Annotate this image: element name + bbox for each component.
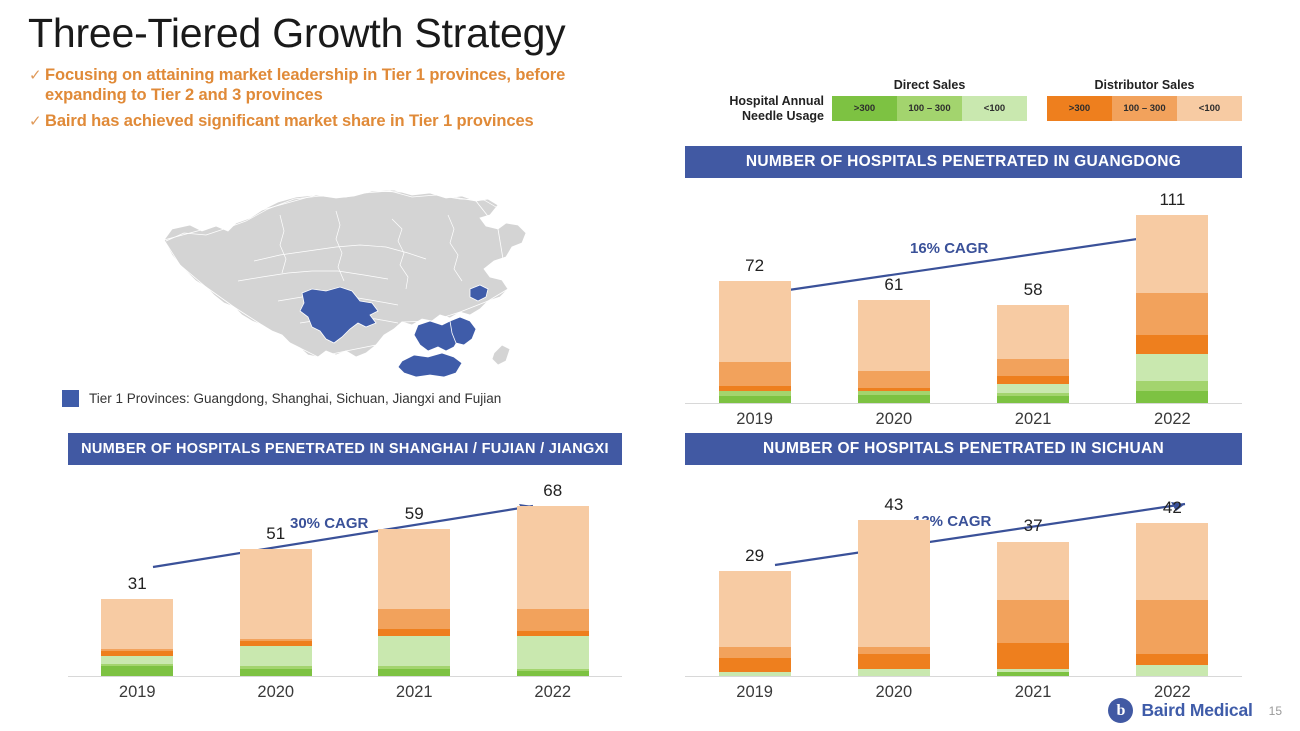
bar-segment (378, 529, 450, 609)
chart-title-guangdong: NUMBER OF HOSPITALS PENETRATED IN GUANGD… (685, 146, 1242, 178)
bar-segment (997, 384, 1069, 392)
bar-segment (858, 371, 930, 388)
x-tick-label: 2020 (824, 410, 963, 429)
stacked-bar (719, 571, 791, 676)
bar-segment (997, 396, 1069, 403)
bullet-text: Baird has achieved significant market sh… (45, 112, 534, 132)
x-axis-labels-shanghai-fujian-jiangxi: 2019 2020 2021 2022 (68, 683, 622, 702)
legend-cell-dist-high: >300 (1047, 96, 1112, 121)
bar-value-label: 29 (685, 546, 824, 566)
bar-slot: 59 (345, 477, 484, 676)
legend-cell-dist-mid: 100 – 300 (1112, 96, 1177, 121)
bar-group-sichuan: 29433742 (685, 477, 1242, 676)
bar-value-label: 58 (964, 280, 1103, 300)
x-axis-line (685, 676, 1242, 677)
page-title: Three-Tiered Growth Strategy (28, 10, 565, 57)
bar-segment (1136, 354, 1208, 381)
bar-slot: 42 (1103, 477, 1242, 676)
bar-segment (101, 666, 173, 676)
chart-plot-guangdong: 16% CAGR 726158111 (685, 192, 1242, 404)
bar-segment (719, 362, 791, 386)
bar-slot: 51 (207, 477, 346, 676)
x-tick-label: 2019 (685, 683, 824, 702)
bar-segment (1136, 381, 1208, 391)
x-axis-line (68, 676, 622, 677)
bar-segment (378, 629, 450, 637)
bar-segment (997, 643, 1069, 668)
legend-group-direct-sales: Direct Sales >300 100 – 300 <100 (832, 78, 1027, 121)
brand-name: Baird Medical (1141, 700, 1252, 721)
legend-group-title: Direct Sales (832, 78, 1027, 92)
bar-segment (101, 599, 173, 649)
bullet-list: ✓ Focusing on attaining market leadershi… (29, 66, 649, 139)
bar-segment (517, 609, 589, 632)
legend-cell-direct-mid: 100 – 300 (897, 96, 962, 121)
x-axis-line (685, 403, 1242, 404)
bar-segment (719, 396, 791, 403)
x-tick-label: 2021 (964, 410, 1103, 429)
bar-segment (858, 520, 930, 647)
bar-segment (719, 281, 791, 362)
bar-value-label: 42 (1103, 498, 1242, 518)
chart-plot-shanghai-fujian-jiangxi: 30% CAGR 31515968 (68, 477, 622, 677)
bar-segment (858, 647, 930, 654)
bar-segment (240, 549, 312, 639)
footer: b Baird Medical 15 (1108, 698, 1282, 723)
x-tick-label: 2022 (484, 683, 623, 702)
bar-slot: 111 (1103, 192, 1242, 403)
bar-segment (1136, 215, 1208, 293)
stacked-bar (517, 506, 589, 676)
bar-segment (1136, 665, 1208, 676)
bar-segment (517, 636, 589, 669)
bar-segment (1136, 600, 1208, 655)
bar-segment (997, 359, 1069, 376)
usage-legend-row-label-line1: Hospital Annual (712, 94, 824, 109)
usage-legend: Hospital Annual Needle Usage Direct Sale… (712, 78, 1242, 130)
stacked-bar (1136, 523, 1208, 676)
stacked-bar (997, 541, 1069, 676)
map-legend-swatch (62, 390, 79, 407)
bar-segment (1136, 335, 1208, 354)
check-icon: ✓ (29, 66, 45, 85)
bar-segment (858, 300, 930, 371)
bar-group-guangdong: 726158111 (685, 192, 1242, 403)
bar-segment (1136, 523, 1208, 599)
bullet-item: ✓ Baird has achieved significant market … (29, 112, 649, 132)
bar-segment (517, 506, 589, 609)
chart-panel-shanghai-fujian-jiangxi: NUMBER OF HOSPITALS PENETRATED IN SHANGH… (68, 433, 622, 702)
bar-slot: 29 (685, 477, 824, 676)
legend-swatch-row: >300 100 – 300 <100 (1047, 96, 1242, 121)
legend-cell-dist-low: <100 (1177, 96, 1242, 121)
chart-title-shanghai-fujian-jiangxi: NUMBER OF HOSPITALS PENETRATED IN SHANGH… (68, 433, 622, 465)
baird-logo-icon: b (1108, 698, 1133, 723)
x-tick-label: 2021 (964, 683, 1103, 702)
stacked-bar (378, 529, 450, 677)
x-axis-labels-guangdong: 2019 2020 2021 2022 (685, 410, 1242, 429)
x-tick-label: 2020 (824, 683, 963, 702)
bar-slot: 58 (964, 192, 1103, 403)
stacked-bar (858, 300, 930, 403)
bar-value-label: 31 (68, 574, 207, 594)
bar-segment (1136, 654, 1208, 665)
bar-slot: 37 (964, 477, 1103, 676)
stacked-bar (997, 305, 1069, 403)
bar-segment (378, 609, 450, 629)
stacked-bar (1136, 215, 1208, 403)
legend-swatch-row: >300 100 – 300 <100 (832, 96, 1027, 121)
bar-slot: 61 (824, 192, 963, 403)
bar-value-label: 51 (207, 524, 346, 544)
bar-value-label: 68 (484, 481, 623, 501)
bar-segment (719, 647, 791, 658)
bar-slot: 31 (68, 477, 207, 676)
chart-plot-sichuan: 13% CAGR 29433742 (685, 477, 1242, 677)
legend-cell-direct-high: >300 (832, 96, 897, 121)
x-tick-label: 2021 (345, 683, 484, 702)
bar-segment (1136, 293, 1208, 335)
stacked-bar (719, 281, 791, 403)
stacked-bar (101, 599, 173, 677)
china-map (150, 185, 550, 390)
province-guangdong (398, 353, 462, 377)
bar-segment (719, 571, 791, 647)
bar-group-shanghai-fujian-jiangxi: 31515968 (68, 477, 622, 676)
bar-value-label: 72 (685, 256, 824, 276)
legend-cell-direct-low: <100 (962, 96, 1027, 121)
usage-legend-row-label: Hospital Annual Needle Usage (712, 94, 824, 124)
slide-root: Three-Tiered Growth Strategy ✓ Focusing … (0, 0, 1300, 731)
bar-value-label: 111 (1103, 190, 1242, 210)
bar-segment (240, 669, 312, 677)
stacked-bar (858, 520, 930, 676)
bar-value-label: 43 (824, 495, 963, 515)
bullet-text: Focusing on attaining market leadership … (45, 66, 649, 105)
bar-segment (858, 654, 930, 669)
bar-segment (997, 376, 1069, 384)
usage-legend-row-label-line2: Needle Usage (712, 109, 824, 124)
x-tick-label: 2020 (207, 683, 346, 702)
legend-group-distributor-sales: Distributor Sales >300 100 – 300 <100 (1047, 78, 1242, 121)
chart-panel-sichuan: NUMBER OF HOSPITALS PENETRATED IN SICHUA… (685, 433, 1242, 702)
bar-value-label: 61 (824, 275, 963, 295)
bar-segment (997, 305, 1069, 359)
bar-slot: 68 (484, 477, 623, 676)
x-tick-label: 2019 (68, 683, 207, 702)
bar-value-label: 37 (964, 516, 1103, 536)
map-legend-label: Tier 1 Provinces: Guangdong, Shanghai, S… (89, 391, 501, 406)
bar-segment (997, 600, 1069, 644)
bar-slot: 72 (685, 192, 824, 403)
page-number: 15 (1269, 704, 1282, 718)
bar-segment (1136, 391, 1208, 403)
china-map-svg (150, 185, 550, 390)
bar-segment (101, 656, 173, 664)
bar-segment (997, 542, 1069, 600)
bar-segment (719, 658, 791, 673)
bullet-item: ✓ Focusing on attaining market leadershi… (29, 66, 649, 105)
bar-segment (378, 636, 450, 666)
chart-panel-guangdong: NUMBER OF HOSPITALS PENETRATED IN GUANGD… (685, 146, 1242, 429)
bar-segment (858, 395, 930, 403)
stacked-bar (240, 549, 312, 677)
x-tick-label: 2019 (685, 410, 824, 429)
check-icon: ✓ (29, 112, 45, 131)
bar-slot: 43 (824, 477, 963, 676)
chart-title-sichuan: NUMBER OF HOSPITALS PENETRATED IN SICHUA… (685, 433, 1242, 465)
map-legend: Tier 1 Provinces: Guangdong, Shanghai, S… (62, 390, 501, 407)
bar-segment (240, 646, 312, 666)
legend-group-title: Distributor Sales (1047, 78, 1242, 92)
bar-value-label: 59 (345, 504, 484, 524)
bar-segment (378, 669, 450, 677)
bar-segment (858, 669, 930, 676)
x-tick-label: 2022 (1103, 410, 1242, 429)
